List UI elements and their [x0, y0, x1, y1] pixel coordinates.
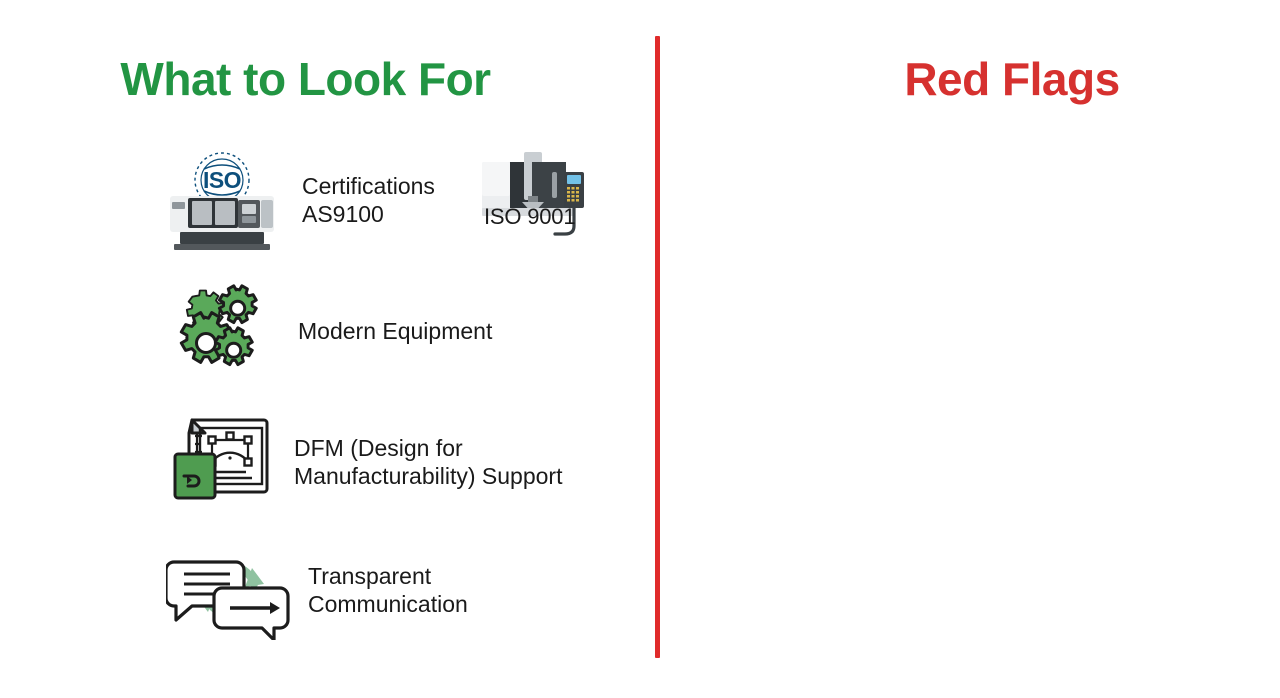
- iso-9001-caption: ISO 9001: [484, 204, 575, 230]
- vertical-machining-center-icon: [478, 146, 588, 246]
- gears-icon: [168, 283, 272, 379]
- speech-bubbles-cycle-icon: [166, 540, 292, 640]
- list-item: Modern Equipment: [168, 283, 492, 379]
- left-column-title: What to Look For: [0, 56, 633, 102]
- list-item: Transparent Communication: [166, 540, 468, 640]
- list-item-label: Transparent Communication: [308, 562, 468, 618]
- cnc-lathe-iso-badge-icon: ISO: [168, 150, 276, 250]
- infographic-canvas: What to Look For ISO: [0, 0, 1280, 698]
- right-column-title: Red Flags: [702, 56, 1280, 102]
- svg-text:ISO: ISO: [203, 167, 241, 193]
- list-item: DFM (Design for Manufacturability) Suppo…: [168, 414, 562, 510]
- list-item: ISO: [168, 150, 435, 250]
- list-item-label: Modern Equipment: [298, 317, 492, 345]
- what-to-look-for-column: What to Look For ISO: [0, 0, 655, 698]
- blueprint-cad-icon: [168, 414, 278, 510]
- iso-9001-machine-group: ISO 9001: [478, 146, 588, 246]
- list-item-label: DFM (Design for Manufacturability) Suppo…: [294, 434, 562, 490]
- red-flags-column: Red Flags: [660, 0, 1280, 698]
- list-item-label: Certifications AS9100: [302, 172, 435, 228]
